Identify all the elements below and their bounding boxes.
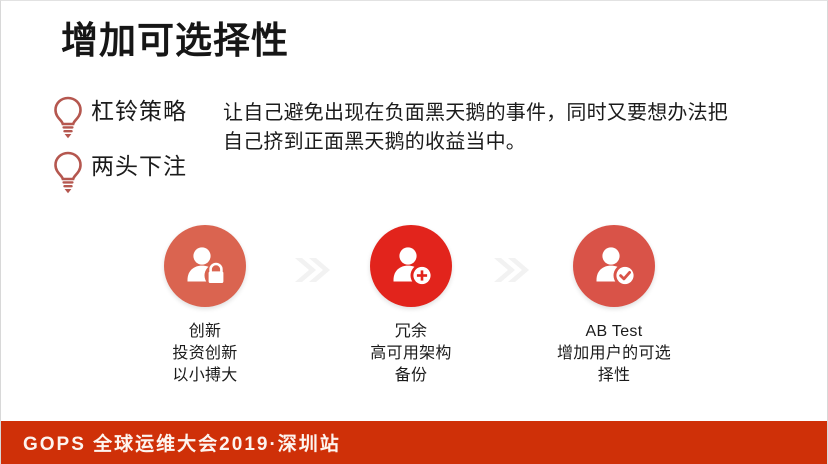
bullet-item-2-label: 两头下注 [91,149,187,183]
flow-node-3-label-line-1: AB Test [529,321,699,343]
flow-node-3-label-line-3: 择性 [529,365,699,387]
flow-node-1-label-line-3: 以小搏大 [120,365,290,387]
flow-node-2-label-line-1: 冗余 [326,321,496,343]
flow-node-1-label-line-2: 投资创新 [120,343,290,365]
flow-node-2-label-line-2: 高可用架构 [326,343,496,365]
body-paragraph-line-1: 让自己避免出现在负面黑天鹅的事件，同时又要想办法把 [223,99,743,128]
double-chevron-right-icon [488,255,534,285]
presentation-slide: 增加可选择性 杠铃策略 两头下注 让自己避免出现在负面黑天鹅的事件，同时又要想办… [0,0,828,464]
flow-node-innovation: 创新 投资创新 以小搏大 [120,225,290,387]
flow-node-3-circle [573,225,655,307]
flow-node-redundancy: 冗余 高可用架构 备份 [326,225,496,387]
bullet-item-1: 杠铃策略 [51,94,187,140]
flow-diagram: 创新 投资创新 以小搏大 [1,225,828,400]
bullet-item-2: 两头下注 [51,149,187,195]
flow-node-2-circle [370,225,452,307]
body-paragraph-line-2: 自己挤到正面黑天鹅的收益当中。 [223,128,743,157]
bullet-item-1-label: 杠铃策略 [91,94,187,128]
flow-node-2-label-line-3: 备份 [326,365,496,387]
footer-conference-label: GOPS 全球运维大会2019·深圳站 [23,429,341,456]
flow-node-1-circle [164,225,246,307]
lightbulb-icon [51,149,85,195]
flow-node-ab-test: AB Test 增加用户的可选 择性 [529,225,699,387]
user-check-icon [588,240,640,292]
page-title: 增加可选择性 [61,19,289,63]
flow-node-2-label: 冗余 高可用架构 备份 [326,321,496,387]
user-lock-icon [179,240,231,292]
flow-node-3-label-line-2: 增加用户的可选 [529,343,699,365]
footer-bar: GOPS 全球运维大会2019·深圳站 [1,421,827,464]
flow-node-3-label: AB Test 增加用户的可选 择性 [529,321,699,387]
user-plus-icon [385,240,437,292]
flow-node-1-label: 创新 投资创新 以小搏大 [120,321,290,387]
body-paragraph: 让自己避免出现在负面黑天鹅的事件，同时又要想办法把 自己挤到正面黑天鹅的收益当中… [223,99,743,157]
lightbulb-icon [51,94,85,140]
flow-node-1-label-line-1: 创新 [120,321,290,343]
